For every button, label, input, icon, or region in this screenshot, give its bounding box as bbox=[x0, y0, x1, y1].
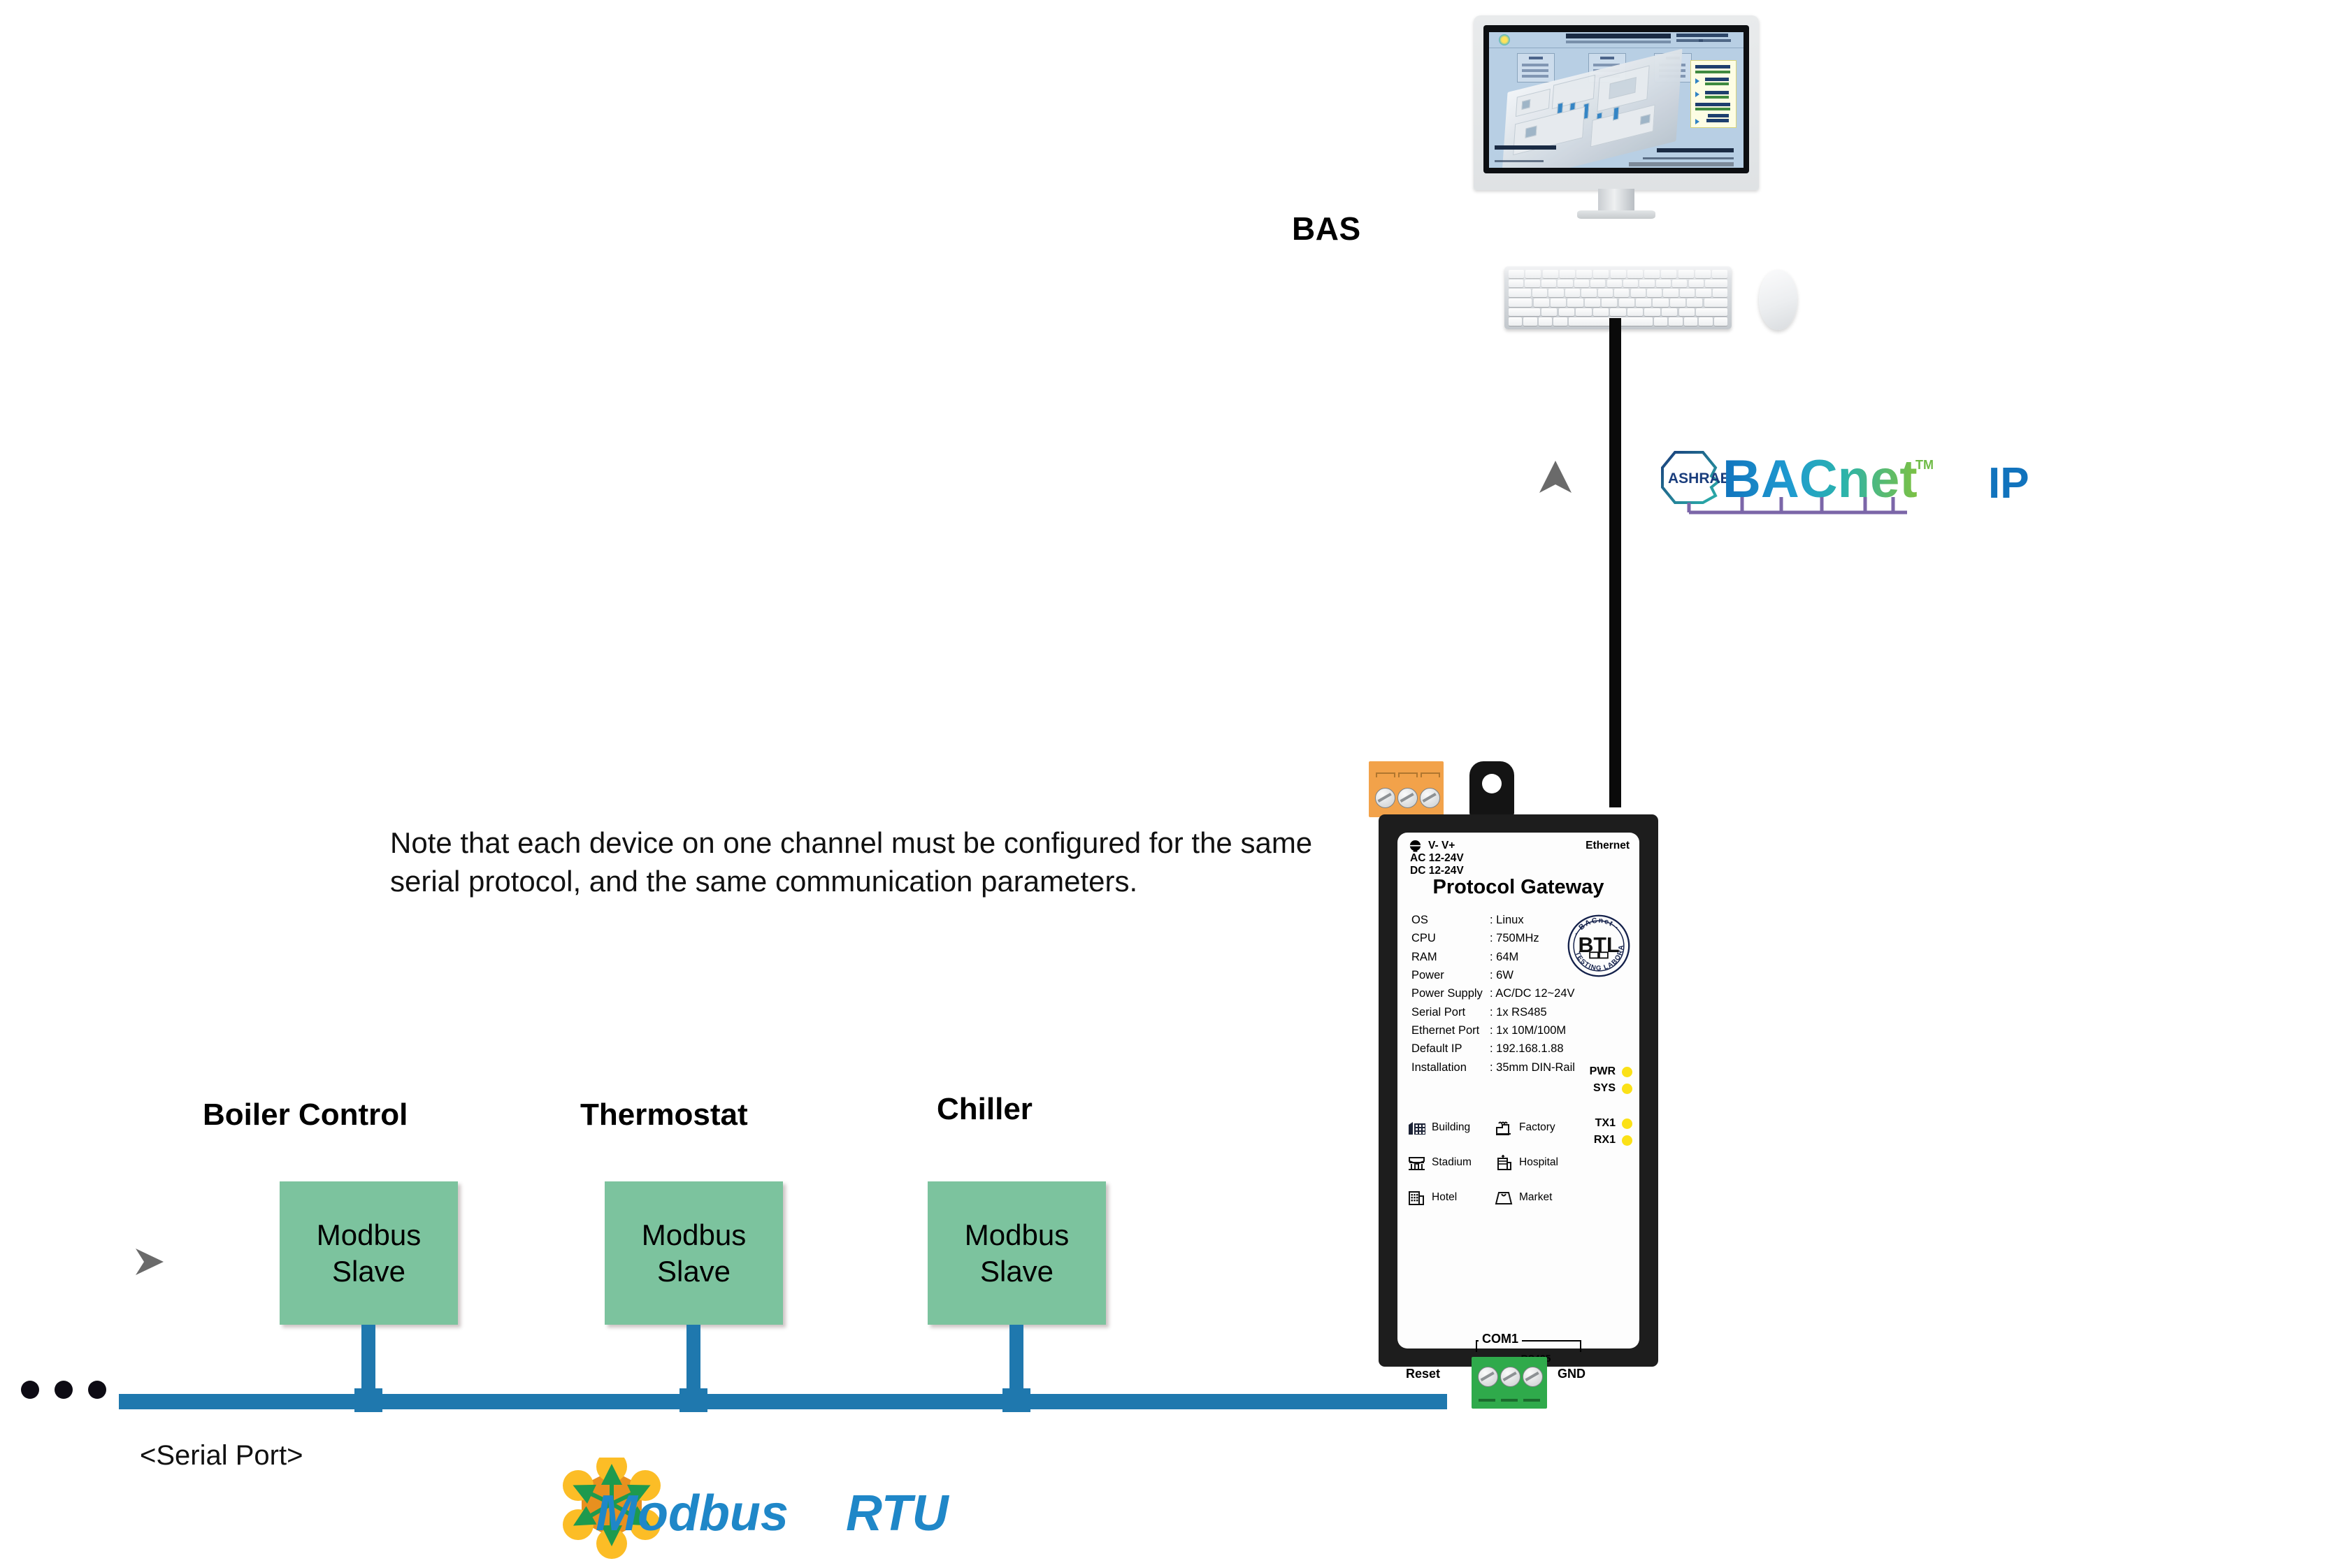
gateway-front-label: V- V+ AC 12-24V DC 12-24V Ethernet Proto… bbox=[1397, 833, 1639, 1348]
spec-row: Power Supply: AC/DC 12~24V bbox=[1411, 984, 1586, 1002]
spec-value: : 192.168.1.88 bbox=[1490, 1040, 1586, 1058]
scada-subtitle-bar bbox=[1566, 41, 1671, 43]
serial-bus-line bbox=[119, 1394, 1447, 1409]
bacnet-logo-svg: ASHRAE BACnet TM bbox=[1655, 445, 2005, 521]
application-hotel: Hotel bbox=[1407, 1189, 1495, 1206]
device-box-thermostat[interactable]: Modbus Slave bbox=[605, 1181, 783, 1325]
monitor-bezel bbox=[1474, 15, 1759, 190]
application-label: Building bbox=[1432, 1121, 1470, 1134]
modbus-text: Modbus bbox=[596, 1486, 789, 1541]
led-label-pwr: PWR bbox=[1590, 1065, 1616, 1078]
spec-row: Default IP: 192.168.1.88 bbox=[1411, 1040, 1586, 1058]
device-box-chiller[interactable]: Modbus Slave bbox=[928, 1181, 1106, 1325]
spec-row: Serial Port: 1x RS485 bbox=[1411, 1003, 1586, 1021]
gateway-spec-list: OS: Linux CPU: 750MHz RAM: 64M Power: 6W… bbox=[1411, 911, 1586, 1077]
spec-row: CPU: 750MHz bbox=[1411, 929, 1586, 947]
device-title-thermostat: Thermostat bbox=[580, 1098, 748, 1132]
application-label: Stadium bbox=[1432, 1156, 1472, 1169]
led-indicator-rx1 bbox=[1622, 1135, 1632, 1146]
monitor-stand-neck bbox=[1598, 189, 1634, 213]
device-stub-boiler-control bbox=[361, 1325, 375, 1395]
device-tee-chiller bbox=[1002, 1388, 1030, 1412]
mouse[interactable] bbox=[1759, 270, 1797, 330]
led-indicator-sys bbox=[1622, 1084, 1632, 1094]
ashrae-text: ASHRAE bbox=[1668, 470, 1730, 487]
scada-title-bar bbox=[1566, 34, 1671, 38]
spec-key: Default IP bbox=[1411, 1040, 1490, 1058]
device-box-line1: Modbus bbox=[642, 1217, 746, 1253]
factory-icon bbox=[1495, 1119, 1514, 1136]
scada-sensor-panel-1 bbox=[1517, 53, 1555, 82]
application-market: Market bbox=[1495, 1189, 1582, 1206]
spec-key: Serial Port bbox=[1411, 1003, 1490, 1021]
spec-key: Power bbox=[1411, 966, 1490, 984]
scada-footer-company bbox=[1657, 148, 1734, 152]
building-icon bbox=[1407, 1119, 1427, 1136]
gateway-product-title: Protocol Gateway bbox=[1397, 876, 1639, 899]
led-label-tx1: TX1 bbox=[1595, 1117, 1616, 1130]
protocol-gateway-device[interactable]: V- V+ AC 12-24V DC 12-24V Ethernet Proto… bbox=[1379, 814, 1658, 1367]
gateway-bottom-notch bbox=[1411, 1350, 1435, 1361]
application-stadium: Stadium bbox=[1407, 1154, 1495, 1171]
com1-label: COM1 bbox=[1479, 1332, 1522, 1346]
spec-key: OS bbox=[1411, 911, 1490, 929]
scada-header bbox=[1489, 32, 1743, 48]
hotel-icon bbox=[1407, 1189, 1427, 1206]
device-box-line2: Slave bbox=[657, 1253, 731, 1289]
device-box-boiler-control[interactable]: Modbus Slave bbox=[280, 1181, 458, 1325]
spec-value: : 1x RS485 bbox=[1490, 1003, 1586, 1021]
hospital-icon bbox=[1495, 1154, 1514, 1171]
note-text: Note that each device on one channel mus… bbox=[390, 823, 1341, 901]
scada-clock-label bbox=[1676, 34, 1703, 37]
ethernet-port[interactable] bbox=[1469, 761, 1514, 816]
bacnet-text: BACnet bbox=[1723, 449, 1918, 509]
ethernet-label: Ethernet bbox=[1586, 840, 1630, 852]
application-label: Hospital bbox=[1519, 1156, 1558, 1169]
application-label: Hotel bbox=[1432, 1191, 1457, 1204]
scada-screen-content bbox=[1489, 32, 1743, 168]
spec-key: Installation bbox=[1411, 1058, 1490, 1077]
application-label: Factory bbox=[1519, 1121, 1555, 1134]
ground-icon bbox=[1407, 840, 1423, 856]
power-terminal-block[interactable] bbox=[1369, 761, 1444, 817]
monitor-stand-base bbox=[1577, 210, 1655, 219]
application-hospital: Hospital bbox=[1495, 1154, 1582, 1171]
led-label-sys: SYS bbox=[1593, 1082, 1616, 1095]
device-box-line2: Slave bbox=[980, 1253, 1054, 1289]
scada-footer-contact bbox=[1643, 157, 1734, 159]
device-title-boiler-control: Boiler Control bbox=[203, 1098, 408, 1132]
spec-row: Power: 6W bbox=[1411, 966, 1586, 984]
btl-certification-logo: · BACnet · TESTING LABORATORIES BTL bbox=[1567, 914, 1631, 978]
pin-label-gnd: GND bbox=[1548, 1367, 1595, 1381]
spec-key: CPU bbox=[1411, 929, 1490, 947]
spec-value: : AC/DC 12~24V bbox=[1490, 984, 1586, 1002]
device-tee-thermostat bbox=[680, 1388, 707, 1412]
serial-port-label: <Serial Port> bbox=[140, 1440, 303, 1472]
spec-value: : 1x 10M/100M bbox=[1490, 1021, 1586, 1040]
spec-row: Ethernet Port: 1x 10M/100M bbox=[1411, 1021, 1586, 1040]
application-icon-list: Building Factory bbox=[1407, 1119, 1582, 1224]
scada-logo-icon bbox=[1499, 34, 1510, 45]
power-input-labels: V- V+ AC 12-24V DC 12-24V bbox=[1410, 840, 1464, 877]
led-label-rx1: RX1 bbox=[1594, 1134, 1616, 1146]
led-indicator-pwr bbox=[1622, 1067, 1632, 1077]
device-stub-thermostat bbox=[686, 1325, 700, 1395]
device-box-line2: Slave bbox=[332, 1253, 405, 1289]
gateway-enclosure: V- V+ AC 12-24V DC 12-24V Ethernet Proto… bbox=[1379, 814, 1658, 1367]
bacnet-ip-logo: ASHRAE BACnet TM IP bbox=[1655, 445, 2029, 521]
led-indicator-tx1 bbox=[1622, 1119, 1632, 1129]
device-tee-boiler-control bbox=[354, 1388, 382, 1412]
device-title-chiller: Chiller bbox=[937, 1092, 1033, 1127]
application-factory: Factory bbox=[1495, 1119, 1582, 1136]
ethernet-cable bbox=[1609, 318, 1621, 807]
spec-row: RAM: 64M bbox=[1411, 948, 1586, 966]
spec-key: Power Supply bbox=[1411, 984, 1490, 1002]
scada-company-name bbox=[1495, 145, 1556, 150]
scada-company-address bbox=[1495, 160, 1544, 162]
device-box-line1: Modbus bbox=[317, 1217, 421, 1253]
bacnet-tm-text: TM bbox=[1915, 458, 1934, 472]
device-box-line1: Modbus bbox=[965, 1217, 1069, 1253]
bas-label: BAS bbox=[1292, 210, 1361, 247]
scada-menu-panel bbox=[1690, 60, 1737, 128]
modbus-logo-svg: Modbus RTU bbox=[552, 1458, 972, 1559]
application-label: Market bbox=[1519, 1191, 1552, 1204]
device-stub-chiller bbox=[1009, 1325, 1023, 1395]
modbus-rtu-logo: Modbus RTU bbox=[552, 1458, 972, 1562]
monitor-screen bbox=[1483, 25, 1749, 173]
bas-workstation-monitor bbox=[1474, 15, 1759, 211]
modbus-rtu-text: RTU bbox=[846, 1486, 950, 1541]
scada-date-value bbox=[1699, 39, 1731, 42]
reset-button-label[interactable]: Reset bbox=[1406, 1367, 1473, 1381]
uplink-arrow-icon bbox=[1538, 458, 1573, 496]
spec-key: RAM bbox=[1411, 948, 1490, 966]
spec-key: Ethernet Port bbox=[1411, 1021, 1490, 1040]
stadium-icon bbox=[1407, 1154, 1427, 1171]
ethernet-cable-keyboard-stub bbox=[1609, 318, 1621, 332]
rs485-terminal-block[interactable] bbox=[1472, 1357, 1547, 1409]
bus-direction-arrow-icon bbox=[133, 1244, 166, 1279]
scada-status-bar bbox=[1629, 162, 1734, 166]
market-icon bbox=[1495, 1189, 1514, 1206]
application-building: Building bbox=[1407, 1119, 1495, 1136]
spec-row: OS: Linux bbox=[1411, 911, 1586, 929]
bus-continues-ellipsis bbox=[21, 1381, 106, 1399]
led-row-sys: SYS bbox=[1555, 1080, 1632, 1097]
scada-date-label bbox=[1702, 34, 1728, 37]
bacnet-ip-text: IP bbox=[1988, 459, 2029, 508]
led-row-pwr: PWR bbox=[1555, 1063, 1632, 1080]
